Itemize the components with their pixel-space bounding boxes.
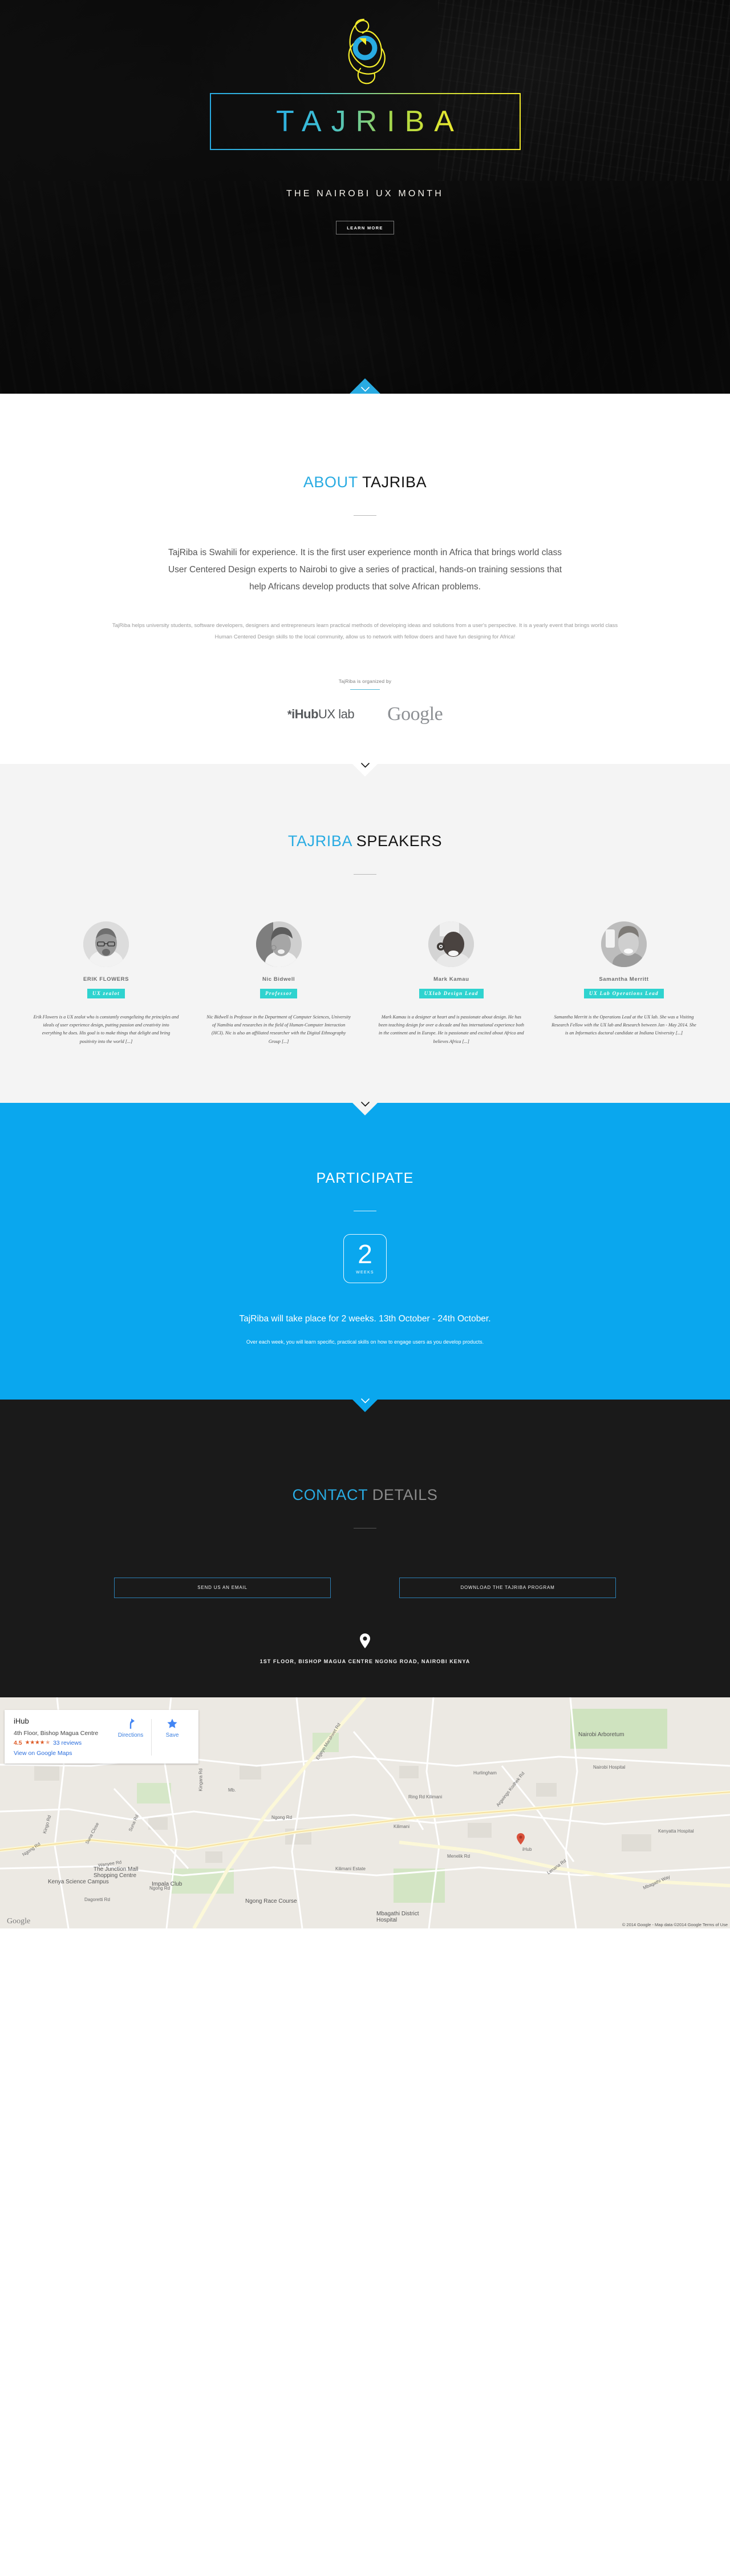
map-section[interactable]: Kingara RdMb.Suna CloseSuna RdWanyee RdN…	[0, 1697, 730, 1928]
contact-title: CONTACT DETAILS	[0, 1486, 730, 1504]
save-label: Save	[166, 1732, 179, 1738]
map-road-label: Dagoretti Rd	[84, 1897, 110, 1902]
about-divider	[354, 515, 376, 516]
map-road-label: Kilimani	[394, 1824, 409, 1829]
map-place-label: Ngong Race Course	[245, 1898, 297, 1904]
ihub-logo-star: *	[287, 709, 291, 722]
participate-description: Over each week, you will learn specific,…	[0, 1339, 730, 1345]
map-pin-icon	[360, 1633, 370, 1648]
tajriba-squiggle-logo-icon	[331, 13, 399, 90]
tajriba-wordmark-box: TAJRIBA	[210, 93, 521, 150]
speaker-card[interactable]: Nic Bidwell Professor Nic Bidwell is Pro…	[201, 921, 356, 1046]
speaker-role-badge: UX zealot	[87, 989, 125, 998]
organizer-logos: *iHubUX lab Google	[0, 705, 730, 724]
speaker-bio: Erik Flowers is a UX zealot who is const…	[29, 1013, 184, 1046]
avatar	[601, 921, 647, 967]
about-lead-paragraph: TajRiba is Swahili for experience. It is…	[165, 544, 565, 596]
speakers-section: TAJRIBA SPEAKERS ERIK FLOWERS UX zealot …	[0, 764, 730, 1103]
map-road-label: Ngong Rd	[271, 1815, 292, 1820]
duration-badge: 2 WEEKS	[343, 1234, 387, 1283]
avatar	[428, 921, 474, 967]
speaker-bio: Samantha Merritt is the Operations Lead …	[546, 1013, 701, 1038]
map-road-label: Ring Rd Kilimani	[408, 1794, 442, 1799]
view-on-google-maps-link[interactable]: View on Google Maps	[14, 1750, 112, 1757]
speaker-card[interactable]: Samantha Merritt UX Lab Operations Lead …	[546, 921, 701, 1046]
send-email-button[interactable]: SEND US AN EMAIL	[114, 1578, 331, 1598]
participate-dates: TajRiba will take place for 2 weeks. 13t…	[0, 1314, 730, 1324]
about-title: ABOUT TAJRIBA	[0, 474, 730, 491]
contact-buttons: SEND US AN EMAIL DOWNLOAD THE TAJRIBA PR…	[114, 1578, 616, 1598]
map-road-label: Mb.	[228, 1788, 236, 1793]
rating-score: 4.5	[14, 1740, 22, 1746]
chevron-down-icon	[354, 378, 376, 394]
map-info-card[interactable]: iHub 4th Floor, Bishop Magua Centre 4.5 …	[5, 1710, 198, 1764]
about-sub-paragraph: TajRiba helps university students, softw…	[108, 620, 622, 643]
organized-by-label: TajRiba is organized by	[0, 678, 730, 684]
speaker-role-badge: Professor	[260, 989, 297, 998]
avatar	[256, 921, 302, 967]
about-title-rest: TAJRIBA	[358, 474, 427, 491]
directions-button[interactable]: Directions	[112, 1718, 149, 1738]
map-road-label: iHub	[522, 1847, 532, 1852]
speaker-name: ERIK FLOWERS	[29, 976, 184, 982]
google-logo: Google	[387, 705, 443, 724]
speakers-title-rest: SPEAKERS	[352, 832, 442, 850]
place-address: 4th Floor, Bishop Magua Centre	[14, 1730, 112, 1737]
participate-title: PARTICIPATE	[0, 1170, 730, 1187]
map-road-label: Nairobi Hospital	[593, 1765, 625, 1770]
about-section: ABOUT TAJRIBA TajRiba is Swahili for exp…	[0, 394, 730, 764]
map-road-label: Hurlingham	[473, 1770, 497, 1776]
directions-icon	[112, 1718, 149, 1731]
speaker-name: Nic Bidwell	[201, 976, 356, 982]
contact-address: 1ST FLOOR, BISHOP MAGUA CENTRE NGONG ROA…	[0, 1659, 730, 1664]
speaker-bio: Nic Bidwell is Professor in the Departme…	[201, 1013, 356, 1046]
participate-section: PARTICIPATE 2 WEEKS TajRiba will take pl…	[0, 1103, 730, 1400]
chevron-down-icon	[356, 1102, 374, 1111]
save-button[interactable]: Save	[154, 1718, 190, 1738]
place-name: iHub	[14, 1717, 112, 1726]
speaker-name: Mark Kamau	[374, 976, 529, 982]
star-icon	[154, 1718, 190, 1731]
place-rating: 4.5 ★★★★ ★ 33 reviews	[14, 1740, 112, 1746]
ihub-logo-light: UX lab	[318, 707, 354, 722]
learn-more-button[interactable]: LEARN MORE	[336, 221, 394, 234]
speaker-role-badge: UX Lab Operations Lead	[584, 989, 664, 998]
map-road-label: Kilimani Estate	[335, 1866, 366, 1871]
rating-half-star: ★	[45, 1740, 50, 1746]
contact-section: CONTACT DETAILS SEND US AN EMAIL DOWNLOA…	[0, 1400, 730, 1697]
contact-divider	[354, 1528, 376, 1528]
ihub-ux-lab-logo: *iHubUX lab	[287, 707, 354, 722]
map-place-label: Nairobi Arboretum	[578, 1732, 624, 1738]
rating-stars: ★★★★	[25, 1740, 45, 1746]
action-divider	[151, 1719, 152, 1756]
map-place-label: Impala Club	[152, 1881, 182, 1887]
speakers-divider	[354, 874, 376, 875]
tajriba-wordmark: TAJRIBA	[266, 104, 464, 139]
google-map-logo: Google	[7, 1917, 30, 1926]
speaker-bio: Mark Kamau is a designer at heart and is…	[374, 1013, 529, 1046]
map-place-label: The Junction Mall Shopping Centre	[94, 1866, 156, 1879]
about-title-accent: ABOUT	[303, 474, 358, 491]
duration-number: 2	[358, 1241, 372, 1267]
speaker-card[interactable]: Mark Kamau UXlab Design Lead Mark Kamau …	[374, 921, 529, 1046]
review-count[interactable]: 33 reviews	[53, 1740, 82, 1746]
map-road-label: Kingara Rd	[198, 1768, 204, 1791]
map-attribution: © 2014 Google - Map data ©2014 Google Te…	[622, 1922, 728, 1927]
about-bottom-notch	[352, 394, 378, 406]
chevron-down-icon	[356, 763, 374, 772]
contact-title-rest: DETAILS	[368, 1486, 438, 1503]
duration-unit: WEEKS	[356, 1271, 374, 1275]
map-place-label: Kenya Science Campus	[48, 1879, 109, 1885]
ihub-logo-bold: iHub	[291, 707, 318, 722]
speaker-role-badge: UXlab Design Lead	[419, 989, 484, 998]
download-program-button[interactable]: DOWNLOAD THE TAJRIBA PROGRAM	[399, 1578, 616, 1598]
speakers-grid: ERIK FLOWERS UX zealot Erik Flowers is a…	[29, 921, 701, 1046]
speakers-title: TAJRIBA SPEAKERS	[0, 832, 730, 850]
speakers-title-accent: TAJRIBA	[288, 832, 352, 850]
map-road-label: Kenyatta Hospital	[658, 1829, 694, 1834]
speaker-card[interactable]: ERIK FLOWERS UX zealot Erik Flowers is a…	[29, 921, 184, 1046]
directions-label: Directions	[118, 1732, 143, 1738]
avatar	[83, 921, 129, 967]
hero-tagline: THE NAIROBI UX MONTH	[286, 189, 444, 199]
speaker-name: Samantha Merritt	[546, 976, 701, 982]
map-place-label: Mbagathi District Hospital	[376, 1911, 439, 1923]
participate-divider	[354, 1211, 376, 1211]
map-marker-icon[interactable]	[517, 1833, 525, 1845]
map-road-label: Menelik Rd	[447, 1854, 470, 1859]
chevron-down-icon	[356, 1398, 374, 1408]
organized-by-divider	[350, 689, 380, 690]
hero-section: TAJRIBA THE NAIROBI UX MONTH LEARN MORE	[0, 0, 730, 394]
contact-title-accent: CONTACT	[292, 1486, 367, 1503]
